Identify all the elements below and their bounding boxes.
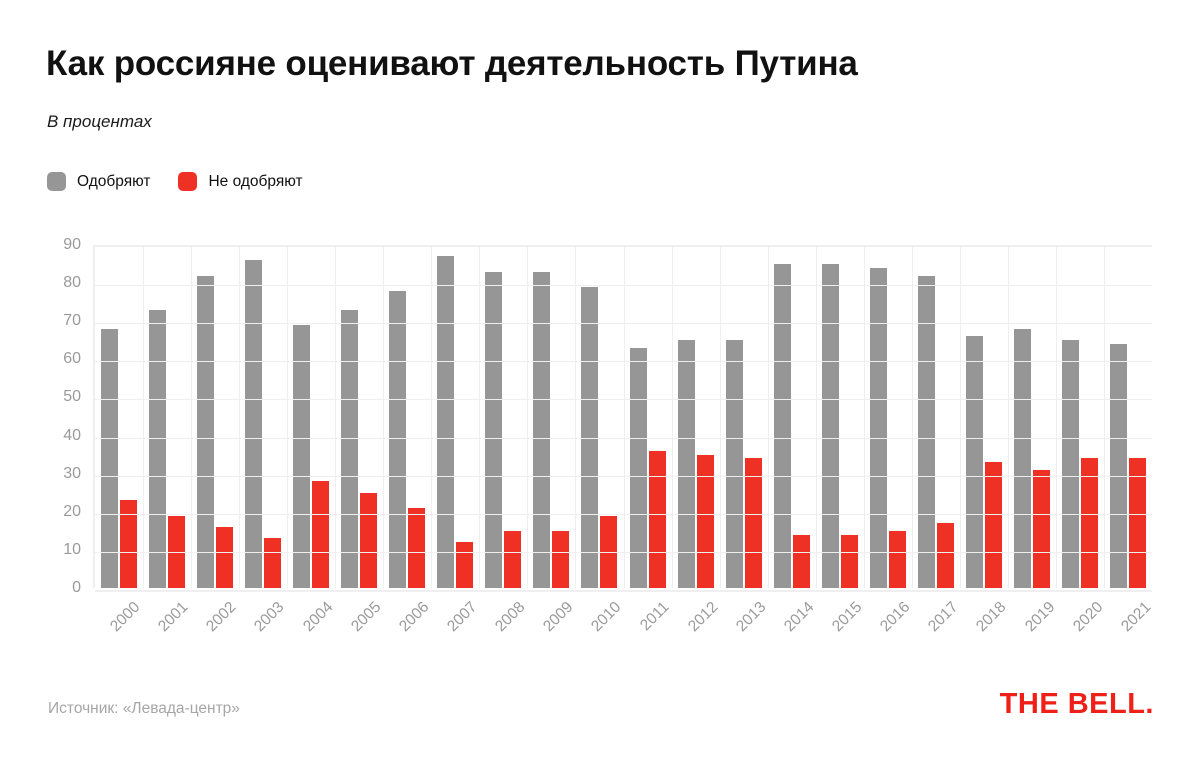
bar-group-2019 [1008,247,1056,588]
y-axis-tick-label: 20 [63,503,81,521]
x-axis-slot: 2004 [286,593,334,673]
legend-swatch-disapprove [178,172,197,191]
bar-disapprove-2018[interactable] [985,462,1002,588]
x-axis-tick-label: 2011 [637,599,673,635]
bar-approve-2006[interactable] [389,291,406,588]
x-axis-slot: 2007 [430,593,478,673]
x-axis-tick-label: 2004 [300,599,337,636]
x-axis-tick-label: 2020 [1070,599,1107,636]
x-axis-slot: 2020 [1056,593,1104,673]
bar-approve-2015[interactable] [822,264,839,588]
bar-group-2000 [95,247,143,588]
bar-group-2005 [335,247,383,588]
source-note: Источник: «Левада-центр» [48,700,240,718]
gridline-vertical [527,247,528,588]
bar-group-2003 [239,247,287,588]
x-axis-slot: 2018 [960,593,1008,673]
x-axis-tick-label: 2010 [588,599,625,636]
x-axis-tick-label: 2000 [107,599,144,636]
page-title: Как россияне оценивают деятельность Пути… [46,44,858,84]
bar-group-2014 [768,247,816,588]
x-axis-tick-label: 2009 [540,599,577,636]
bar-approve-2000[interactable] [101,329,118,588]
x-axis-slot: 2021 [1104,593,1152,673]
bar-group-2020 [1056,247,1104,588]
bar-group-2004 [287,247,335,588]
bar-approve-2007[interactable] [437,256,454,588]
bar-group-2001 [143,247,191,588]
bar-disapprove-2020[interactable] [1081,458,1098,588]
bar-disapprove-2008[interactable] [504,531,521,588]
y-axis-tick-label: 0 [72,579,81,597]
bar-group-2013 [720,247,768,588]
gridline-vertical [1104,247,1105,588]
bar-disapprove-2019[interactable] [1033,470,1050,588]
x-axis-slot: 2001 [141,593,189,673]
bar-disapprove-2009[interactable] [552,531,569,588]
gridline-vertical [239,247,240,588]
bar-approve-2014[interactable] [774,264,791,588]
x-axis-tick-label: 2021 [1118,599,1155,636]
bar-disapprove-2013[interactable] [745,458,762,588]
bar-disapprove-2016[interactable] [889,531,906,588]
gridline-vertical [191,247,192,588]
x-axis-tick-label: 2014 [781,599,818,636]
gridline-horizontal [95,590,1152,592]
bar-disapprove-2015[interactable] [841,535,858,588]
gridline-vertical [335,247,336,588]
bar-approve-2005[interactable] [341,310,358,588]
y-axis-tick-label: 60 [63,350,81,368]
bar-approve-2008[interactable] [485,272,502,588]
bar-approve-2016[interactable] [870,268,887,588]
legend-swatch-approve [47,172,66,191]
bar-disapprove-2012[interactable] [697,455,714,588]
brand-logo: THE BELL. [1000,688,1154,721]
x-axis-tick-label: 2018 [973,599,1010,636]
bar-disapprove-2003[interactable] [264,538,281,588]
bar-approve-2012[interactable] [678,340,695,588]
x-axis-tick-label: 2005 [348,599,385,636]
bar-disapprove-2014[interactable] [793,535,810,588]
bar-approve-2018[interactable] [966,336,983,588]
chart-page: Как россияне оценивают деятельность Пути… [0,0,1200,778]
bar-disapprove-2002[interactable] [216,527,233,588]
bar-group-2010 [575,247,623,588]
gridline-vertical [864,247,865,588]
bar-group-2007 [431,247,479,588]
x-axis-tick-label: 2012 [685,599,722,636]
x-axis-tick-label: 2001 [155,599,192,636]
x-axis-slot: 2005 [334,593,382,673]
gridline-vertical [383,247,384,588]
y-axis-tick-label: 40 [63,427,81,445]
x-axis-tick-label: 2008 [492,599,529,636]
x-axis-slot: 2008 [478,593,526,673]
bar-group-2018 [960,247,1008,588]
bar-disapprove-2017[interactable] [937,523,954,588]
gridline-vertical [960,247,961,588]
plot-area [93,245,1152,588]
bar-approve-2004[interactable] [293,325,310,588]
y-axis-tick-label: 80 [63,274,81,292]
bar-disapprove-2021[interactable] [1129,458,1146,588]
legend-item-label: Не одобряют [208,173,302,191]
x-axis-slot: 2014 [767,593,815,673]
bar-group-2006 [383,247,431,588]
bar-approve-2020[interactable] [1062,340,1079,588]
gridline-vertical [912,247,913,588]
x-axis-slot: 2006 [382,593,430,673]
bar-approve-2009[interactable] [533,272,550,588]
bar-disapprove-2007[interactable] [456,542,473,588]
x-axis-tick-label: 2007 [444,599,481,636]
x-axis-slot: 2011 [623,593,671,673]
y-axis-tick-label: 90 [63,236,81,254]
x-axis-slot: 2010 [574,593,622,673]
gridline-vertical [479,247,480,588]
bar-approve-2001[interactable] [149,310,166,588]
y-axis-tick-label: 70 [63,312,81,330]
legend-item-approve[interactable]: Одобряют [47,172,150,191]
bar-disapprove-2005[interactable] [360,493,377,588]
bar-group-2009 [527,247,575,588]
legend-item-disapprove[interactable]: Не одобряют [178,172,302,191]
gridline-vertical [816,247,817,588]
bar-group-2008 [479,247,527,588]
x-axis-tick-label: 2013 [733,599,770,636]
gridline-vertical [287,247,288,588]
legend-item-label: Одобряют [77,173,150,191]
bar-group-2016 [864,247,912,588]
x-axis-tick-label: 2006 [396,599,433,636]
y-axis-tick-label: 10 [63,541,81,559]
bar-disapprove-2011[interactable] [649,451,666,588]
x-axis-slot: 2019 [1008,593,1056,673]
bar-group-2011 [624,247,672,588]
bar-group-2012 [672,247,720,588]
x-axis: 2000200120022003200420052006200720082009… [93,593,1152,673]
bar-disapprove-2004[interactable] [312,481,329,588]
bar-group-2002 [191,247,239,588]
x-axis-tick-label: 2017 [925,599,962,636]
bar-approve-2013[interactable] [726,340,743,588]
bar-group-2015 [816,247,864,588]
gridline-vertical [768,247,769,588]
x-axis-slot: 2013 [719,593,767,673]
gridline-vertical [1008,247,1009,588]
y-axis-tick-label: 30 [63,465,81,483]
x-axis-slot: 2015 [815,593,863,673]
x-axis-slot: 2003 [237,593,285,673]
chart-subtitle: В процентах [47,112,152,132]
x-axis-slot: 2012 [671,593,719,673]
y-axis: 9080706050403020100 [47,240,89,588]
x-axis-tick-label: 2016 [877,599,914,636]
gridline-vertical [431,247,432,588]
x-axis-slot: 2002 [189,593,237,673]
bar-approve-2019[interactable] [1014,329,1031,588]
gridline-vertical [1056,247,1057,588]
gridline-vertical [575,247,576,588]
x-axis-slot: 2000 [93,593,141,673]
y-axis-tick-label: 50 [63,388,81,406]
gridline-vertical [143,247,144,588]
bar-group-2021 [1104,247,1152,588]
x-axis-tick-label: 2015 [829,599,866,636]
chart-plot-wrapper: 9080706050403020100 [47,240,1152,600]
bar-disapprove-2006[interactable] [408,508,425,588]
chart-legend: ОдобряютНе одобряют [47,172,303,191]
x-axis-slot: 2009 [526,593,574,673]
x-axis-tick-label: 2002 [203,599,240,636]
gridline-vertical [624,247,625,588]
x-axis-slot: 2016 [863,593,911,673]
bar-group-2017 [912,247,960,588]
x-axis-tick-label: 2003 [251,599,288,636]
gridline-vertical [672,247,673,588]
gridline-vertical [720,247,721,588]
x-axis-tick-label: 2019 [1022,599,1059,636]
x-axis-slot: 2017 [911,593,959,673]
bar-approve-2003[interactable] [245,260,262,588]
